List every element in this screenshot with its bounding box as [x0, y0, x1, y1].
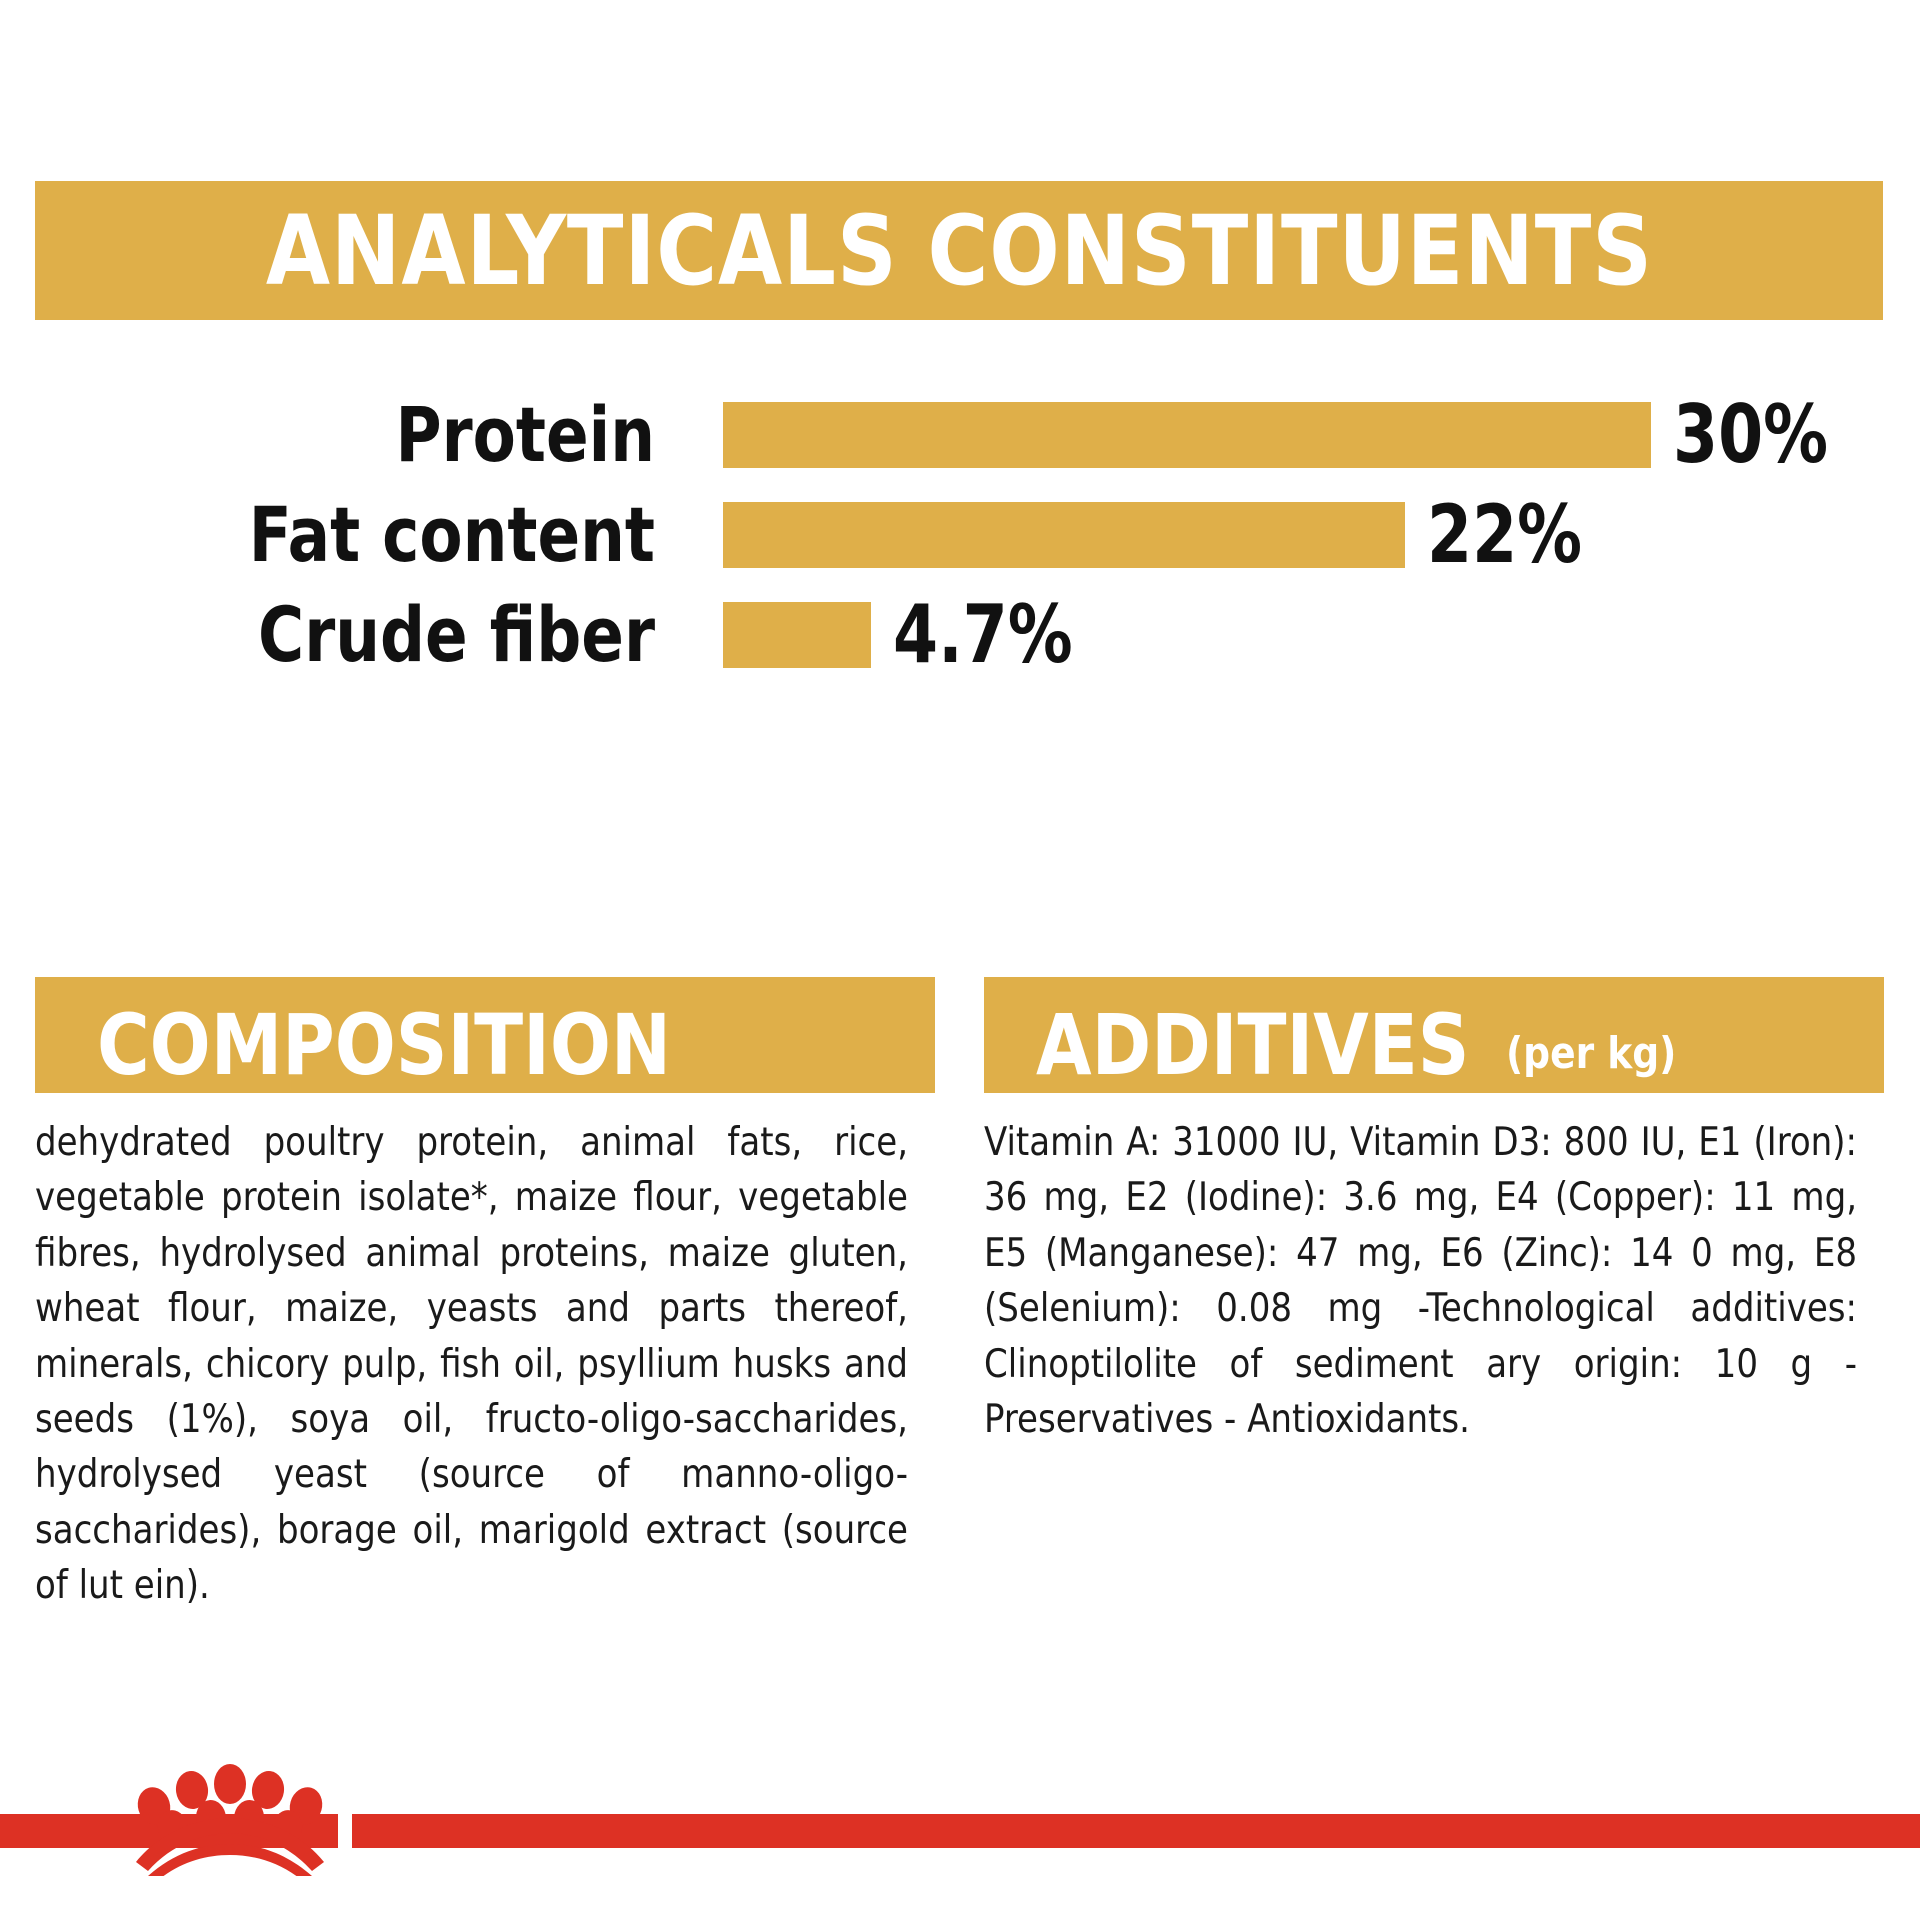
footer-rule-right [352, 1814, 1920, 1848]
footer-logo-strip [0, 1792, 1920, 1852]
chart-row-fat-content: Fat content 22% [0, 485, 1920, 585]
chart-value-protein: 30% [1673, 395, 1828, 475]
chart-bar-fat-content [723, 502, 1405, 568]
analyticals-constituents-banner: ANALYTICALS CONSTITUENTS [35, 181, 1883, 320]
chart-label-protein: Protein [52, 397, 655, 473]
chart-bar-group-protein: 30% [723, 395, 1845, 475]
composition-panel: COMPOSITION dehydrated poultry protein, … [35, 977, 935, 1613]
royal-canin-crown-logo [126, 1756, 334, 1876]
banner-title: ANALYTICALS CONSTITUENTS [265, 203, 1652, 299]
chart-label-fat-content: Fat content [52, 497, 655, 573]
chart-bar-crude-fiber [723, 602, 871, 668]
chart-row-crude-fiber: Crude fiber 4.7% [0, 585, 1920, 685]
additives-heading-group: ADDITIVES (per kg) [1036, 1003, 1686, 1087]
analyticals-bar-chart: Protein 30% Fat content 22% Crude fiber … [0, 385, 1920, 685]
chart-bar-protein [723, 402, 1651, 468]
additives-heading: ADDITIVES [1036, 1003, 1469, 1087]
composition-text: dehydrated poultry protein, animal fats,… [35, 1115, 908, 1613]
composition-header: COMPOSITION [35, 977, 935, 1093]
additives-panel: ADDITIVES (per kg) Vitamin A: 31000 IU, … [984, 977, 1884, 1613]
additives-text: Vitamin A: 31000 IU, Vitamin D3: 800 IU,… [984, 1115, 1857, 1447]
chart-bar-group-crude-fiber: 4.7% [723, 595, 1093, 675]
chart-row-protein: Protein 30% [0, 385, 1920, 485]
info-panels: COMPOSITION dehydrated poultry protein, … [35, 977, 1885, 1613]
chart-bar-group-fat-content: 22% [723, 495, 1599, 575]
chart-label-crude-fiber: Crude fiber [52, 597, 655, 673]
additives-header: ADDITIVES (per kg) [984, 977, 1884, 1093]
chart-value-fat-content: 22% [1427, 495, 1582, 575]
composition-heading: COMPOSITION [97, 1003, 671, 1087]
chart-value-crude-fiber: 4.7% [893, 595, 1073, 675]
nutrition-panel-page: ANALYTICALS CONSTITUENTS Protein 30% Fat… [0, 0, 1920, 1920]
additives-heading-note: (per kg) [1506, 1032, 1676, 1076]
